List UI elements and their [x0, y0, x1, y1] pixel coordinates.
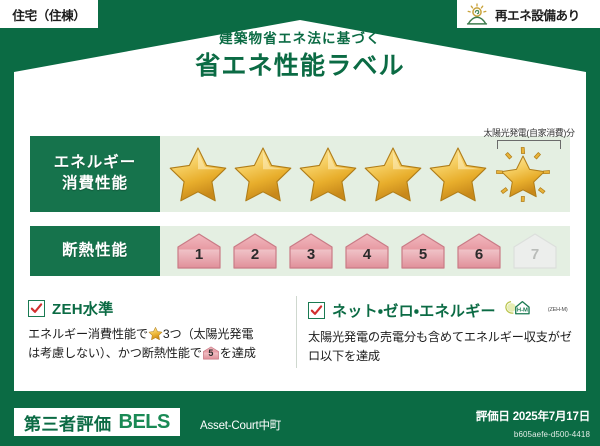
- criterion-zeh: ZEH水準 エネルギー消費性能で 3つ（太陽光発電 は考慮しない）、かつ断熱性能…: [28, 298, 293, 363]
- insulation-house-3-value: 3: [286, 246, 336, 263]
- insulation-house-1: 1: [174, 231, 224, 271]
- inline-house-icon: 5: [202, 345, 220, 361]
- insulation-house-6: 6: [454, 231, 504, 271]
- house-type-tag-label: 住宅（住棟）: [12, 5, 85, 24]
- criteria-divider: [296, 296, 297, 368]
- label-title-main: 省エネ性能ラベル: [0, 53, 600, 81]
- energy-label-line-1: エネルギー: [54, 153, 137, 174]
- energy-star-4: [361, 143, 425, 205]
- criterion-zeh-text-3: は考慮しない）、かつ断熱性能で: [28, 346, 202, 360]
- bels-badge: 第三者評価 BELS: [14, 408, 180, 436]
- label-title: 建築物省エネ法に基づく 省エネ性能ラベル: [0, 32, 600, 80]
- solar-self-consumption-note: 太陽光発電(自家消費)分: [468, 126, 590, 149]
- inline-star-icon: [148, 326, 163, 341]
- bels-logo-text: BELS: [119, 411, 170, 434]
- energy-label-line-2: 消費性能: [62, 174, 128, 195]
- criterion-nze-checkbox[interactable]: [308, 302, 325, 319]
- insulation-house-6-value: 6: [454, 246, 504, 263]
- solar-bracket-icon: [497, 140, 561, 149]
- criterion-nze-header: ネット・ゼロ・エネルギー H-M (ZEH-M): [308, 298, 573, 322]
- inline-house-value: 5: [202, 345, 220, 361]
- insulation-house-5: 5: [398, 231, 448, 271]
- property-name: Asset-Court中町: [200, 417, 281, 433]
- energy-consumption-row-label: エネルギー 消費性能: [30, 136, 160, 212]
- criterion-zeh-text-2: 3つ（太陽光発電: [163, 327, 254, 341]
- criterion-nze-title: ネット・ゼロ・エネルギー: [332, 300, 496, 321]
- insulation-house-3: 3: [286, 231, 336, 271]
- sun-renewable-icon: [465, 3, 489, 25]
- energy-star-3: [296, 143, 360, 205]
- zeh-m-logo-caption: (ZEH-M): [548, 307, 568, 313]
- insulation-house-7: 7: [510, 231, 560, 271]
- insulation-row-label: 断熱性能: [30, 226, 160, 276]
- document-id: b605aefe-d500-4418: [514, 430, 590, 439]
- insulation-performance-row: 断熱性能 1 2: [30, 226, 570, 276]
- evaluation-date-label: 評価日: [476, 411, 510, 423]
- energy-star-2: [231, 143, 295, 205]
- energy-star-solar-sparkle: [491, 143, 555, 205]
- criterion-zeh-header: ZEH水準: [28, 298, 293, 319]
- criterion-zeh-text-4: を達成: [220, 346, 256, 360]
- zeh-m-logo-icon: H-M: [504, 298, 540, 322]
- house-type-tag: 住宅（住棟）: [0, 0, 98, 28]
- insulation-level-scale: 1 2 3 4 5 6 7: [160, 226, 570, 276]
- criterion-net-zero-energy: ネット・ゼロ・エネルギー H-M (ZEH-M) 太陽光発電の売電分も含めてエネ…: [308, 298, 573, 366]
- insulation-house-1-value: 1: [174, 246, 224, 263]
- label-title-sub: 建築物省エネ法に基づく: [0, 32, 600, 47]
- criterion-nze-body: 太陽光発電の売電分も含めてエネルギー収支がゼロ以下を達成: [308, 328, 573, 366]
- third-party-eval-label: 第三者評価: [24, 410, 112, 435]
- evaluation-date: 評価日 2025年7月17日: [476, 408, 590, 424]
- insulation-house-2: 2: [230, 231, 280, 271]
- criterion-zeh-text-1: エネルギー消費性能で: [28, 327, 148, 341]
- energy-performance-label: 住宅（住棟） 再エネ設備あり 建築物省エネ法に基づく 省エネ性能ラベル: [0, 0, 600, 446]
- insulation-house-4-value: 4: [342, 246, 392, 263]
- criterion-zeh-title: ZEH水準: [52, 298, 114, 319]
- evaluation-date-value: 2025年7月17日: [513, 411, 590, 423]
- renewable-equipment-tag: 再エネ設備あり: [457, 0, 600, 28]
- criterion-zeh-checkbox[interactable]: [28, 300, 45, 317]
- energy-star-1: [166, 143, 230, 205]
- insulation-house-2-value: 2: [230, 246, 280, 263]
- solar-self-consumption-caption: 太陽光発電(自家消費)分: [468, 126, 590, 139]
- insulation-house-4: 4: [342, 231, 392, 271]
- insulation-house-7-value: 7: [510, 246, 560, 263]
- renewable-equipment-label: 再エネ設備あり: [495, 5, 580, 24]
- insulation-house-5-value: 5: [398, 246, 448, 263]
- zeh-m-logo-text: H-M: [517, 307, 528, 313]
- criterion-zeh-body: エネルギー消費性能で 3つ（太陽光発電 は考慮しない）、かつ断熱性能で 5 を達…: [28, 325, 293, 363]
- insulation-label-text: 断熱性能: [62, 241, 128, 262]
- energy-star-5: [426, 143, 490, 205]
